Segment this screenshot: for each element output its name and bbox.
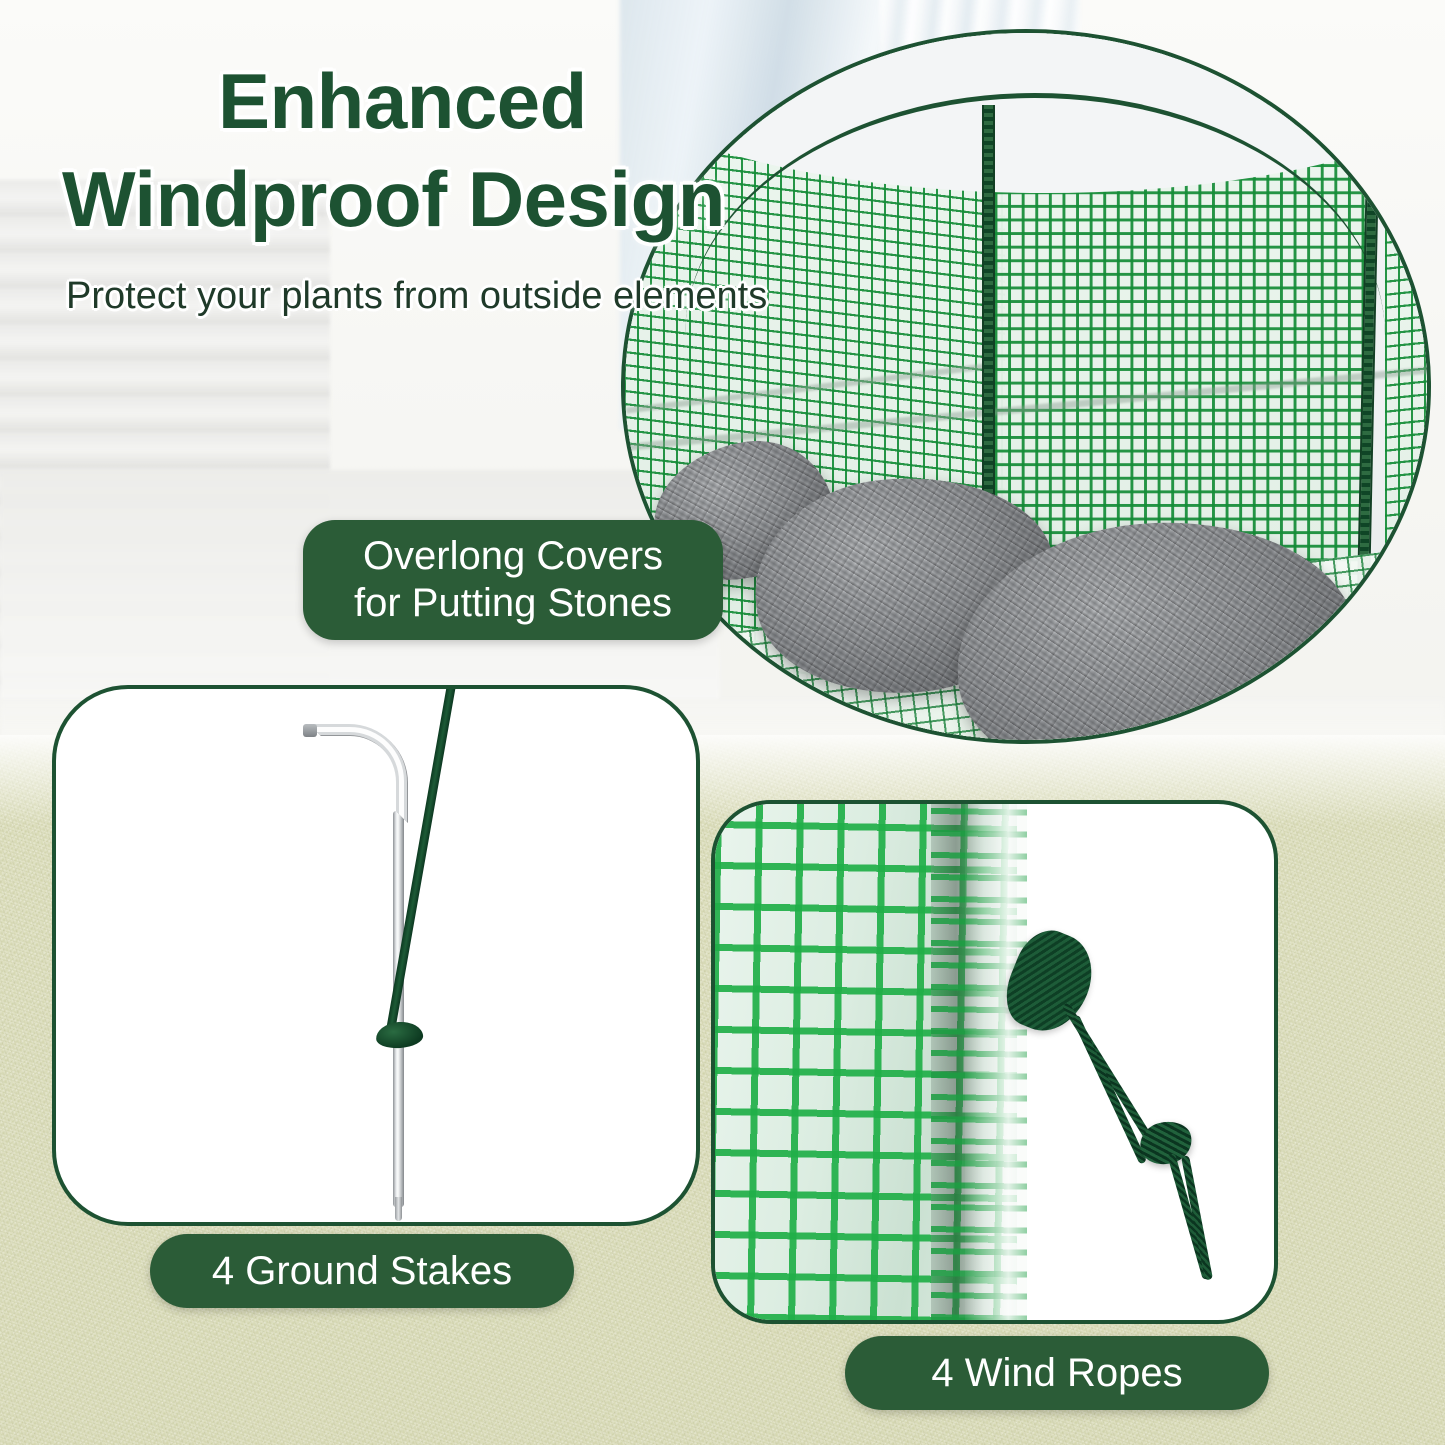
infographic-canvas: Enhanced Windproof Design Protect your p…	[0, 0, 1445, 1445]
page-title-line-2: Windproof Design	[62, 160, 725, 238]
panel-ground-stakes	[52, 685, 700, 1226]
circle-inset-greenhouse-stones	[621, 29, 1431, 744]
badge-4-wind-ropes: 4 Wind Ropes	[845, 1336, 1269, 1410]
badge-4-ground-stakes: 4 Ground Stakes	[150, 1234, 574, 1308]
stake-end-cap	[303, 724, 317, 737]
page-title-line-1: Enhanced	[218, 62, 587, 140]
badge-overlong-covers: Overlong Covers for Putting Stones	[303, 520, 723, 640]
stake-tip	[395, 1197, 402, 1221]
wind-rope-strand	[1071, 1014, 1147, 1164]
guy-rope-knot	[375, 1020, 424, 1049]
pvc-cover-highlight	[965, 804, 1035, 1320]
page-subtitle: Protect your plants from outside element…	[66, 275, 767, 318]
panel-wind-ropes	[711, 800, 1278, 1324]
